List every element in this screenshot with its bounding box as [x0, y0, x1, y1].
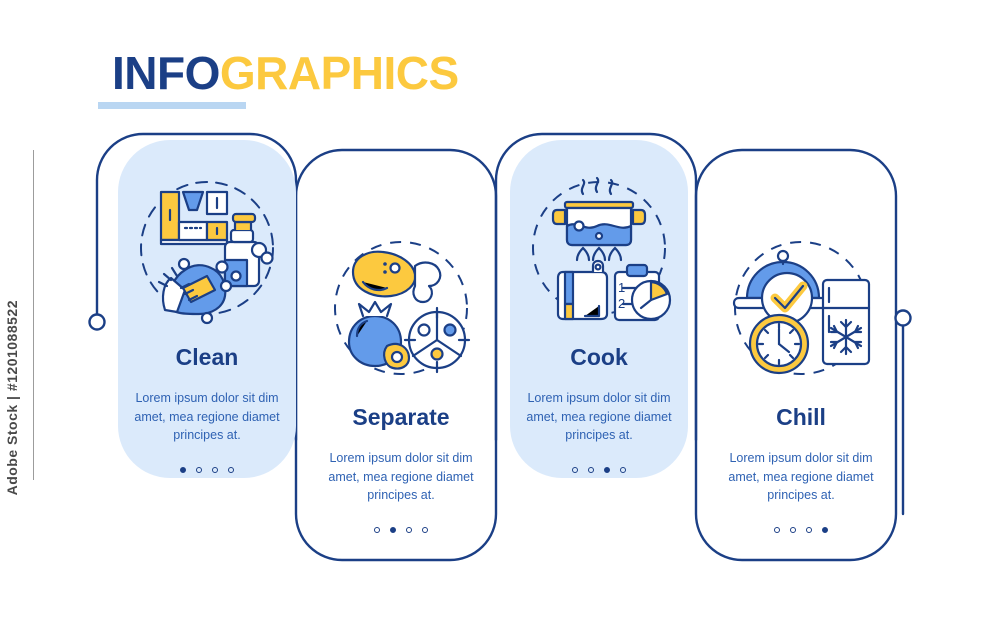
pagination-dot[interactable]	[604, 467, 610, 473]
card-body: Lorem ipsum dolor sit dim amet, mea regi…	[313, 449, 489, 505]
card-body: Lorem ipsum dolor sit dim amet, mea regi…	[713, 449, 889, 505]
pagination-dot[interactable]	[180, 467, 186, 473]
card-title: Clean	[176, 346, 239, 369]
pagination-dots[interactable]	[774, 527, 828, 533]
card-body: Lorem ipsum dolor sit dim amet, mea regi…	[119, 389, 295, 445]
page-title-part-a: INFO	[112, 47, 220, 99]
card-title: Chill	[776, 406, 826, 429]
svg-text:2: 2	[618, 296, 625, 311]
card-body: Lorem ipsum dolor sit dim amet, mea regi…	[511, 389, 687, 445]
card-clean[interactable]: Clean Lorem ipsum dolor sit dim amet, me…	[118, 140, 296, 478]
pagination-dot[interactable]	[806, 527, 812, 533]
clean-icon	[123, 164, 291, 332]
pagination-dot[interactable]	[822, 527, 828, 533]
pagination-dot[interactable]	[422, 527, 428, 533]
pagination-dot[interactable]	[572, 467, 578, 473]
pagination-dot[interactable]	[774, 527, 780, 533]
svg-text:1: 1	[618, 280, 625, 295]
title-underline	[98, 102, 246, 109]
cook-icon: 1 2	[515, 164, 683, 332]
pagination-dot[interactable]	[620, 467, 626, 473]
watermark-rule	[33, 150, 34, 480]
start-node-icon	[90, 315, 105, 330]
pagination-dot[interactable]	[196, 467, 202, 473]
pagination-dots[interactable]	[374, 527, 428, 533]
card-chill[interactable]: Chill Lorem ipsum dolor sit dim amet, me…	[712, 200, 890, 538]
infographic-canvas: Adobe Stock | #1201088522 INFOGRAPHICS	[0, 0, 1000, 623]
chill-icon	[717, 224, 885, 392]
separate-icon	[317, 224, 485, 392]
card-cook[interactable]: 1 2 Cook Lorem ipsum dolor sit dim amet,…	[510, 140, 688, 478]
pagination-dot[interactable]	[390, 527, 396, 533]
adobe-stock-watermark: Adobe Stock | #1201088522	[4, 300, 20, 495]
pagination-dots[interactable]	[180, 467, 234, 473]
pagination-dot[interactable]	[790, 527, 796, 533]
pagination-dot[interactable]	[588, 467, 594, 473]
page-title-part-b: GRAPHICS	[220, 47, 459, 99]
pagination-dots[interactable]	[572, 467, 626, 473]
pagination-dot[interactable]	[228, 467, 234, 473]
card-title: Cook	[570, 346, 628, 369]
pagination-dot[interactable]	[374, 527, 380, 533]
page-title: INFOGRAPHICS	[112, 50, 459, 96]
pagination-dot[interactable]	[406, 527, 412, 533]
pagination-dot[interactable]	[212, 467, 218, 473]
card-title: Separate	[352, 406, 449, 429]
card-separate[interactable]: Separate Lorem ipsum dolor sit dim amet,…	[312, 200, 490, 538]
end-node-icon	[896, 311, 911, 326]
